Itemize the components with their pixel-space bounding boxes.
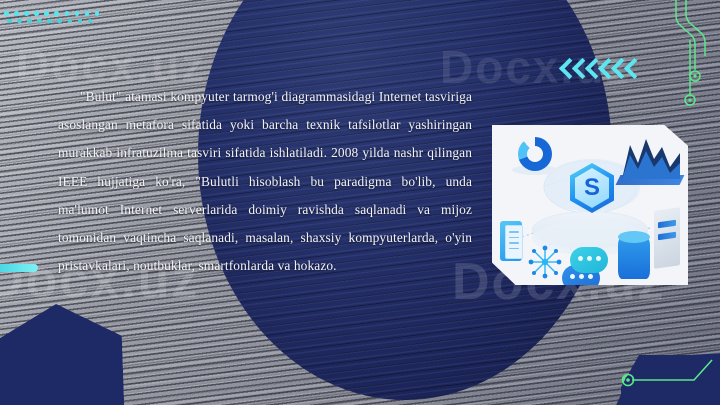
- chevron-left-icon-group: [560, 60, 638, 82]
- illustration-card: S: [492, 125, 688, 285]
- area-chart-icon: [620, 133, 682, 181]
- chevron-left-icon: [625, 60, 638, 82]
- slide-canvas: Docx.uz Docx.uz Docx.uz Docx.uz: [0, 0, 720, 405]
- cloud-computing-illustration: S: [492, 125, 688, 285]
- chevron-left-icon: [612, 60, 625, 82]
- chevron-left-icon: [560, 60, 573, 82]
- chevron-left-icon: [573, 60, 586, 82]
- chat-bubble-teal-icon: [570, 247, 608, 273]
- dot-grid-decoration: [4, 11, 99, 26]
- hexagon-badge: S: [570, 163, 614, 213]
- chevron-left-icon: [586, 60, 599, 82]
- database-cylinder-icon: [618, 237, 650, 279]
- donut-chart-icon: [518, 137, 552, 171]
- server-rack-icon: [654, 207, 680, 269]
- slide-body-text: "Bulut" atamasi kompyuter tarmog'i diagr…: [58, 83, 472, 280]
- network-node-icon: [528, 245, 562, 279]
- document-icon: [505, 225, 523, 259]
- chevron-left-icon: [599, 60, 612, 82]
- navy-blob-bottom-right: [621, 355, 720, 405]
- navy-blob-bottom-left: [0, 302, 127, 405]
- hexagon-letter: S: [570, 171, 614, 205]
- cyan-bar-decoration: [0, 264, 38, 272]
